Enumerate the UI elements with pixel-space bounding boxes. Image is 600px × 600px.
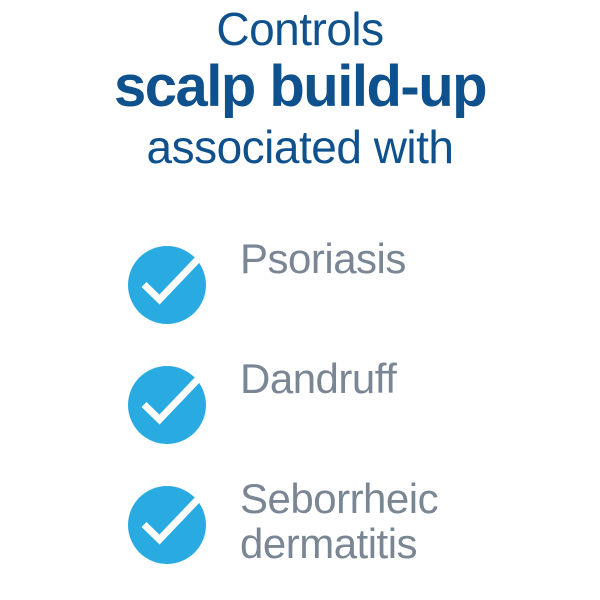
benefit-list: Psoriasis Dandruff Seborrheic dermatitis	[0, 236, 600, 567]
check-circle-icon	[128, 486, 206, 564]
list-item: Seborrheic dermatitis	[0, 476, 600, 567]
list-item: Dandruff	[0, 356, 600, 444]
promotional-claim-panel: Controls scalp build-up associated with …	[0, 0, 600, 600]
check-circle-icon	[128, 366, 206, 444]
headline-line-1: Controls	[0, 0, 600, 52]
list-item-label: Seborrheic dermatitis	[240, 476, 600, 567]
headline-line-2: scalp build-up	[0, 52, 600, 116]
list-item-label: Dandruff	[240, 356, 600, 401]
list-item-label: Psoriasis	[240, 236, 600, 281]
headline-block: Controls scalp build-up associated with	[0, 0, 600, 170]
list-item: Psoriasis	[0, 236, 600, 324]
headline-line-3: associated with	[0, 116, 600, 170]
check-circle-icon	[128, 246, 206, 324]
